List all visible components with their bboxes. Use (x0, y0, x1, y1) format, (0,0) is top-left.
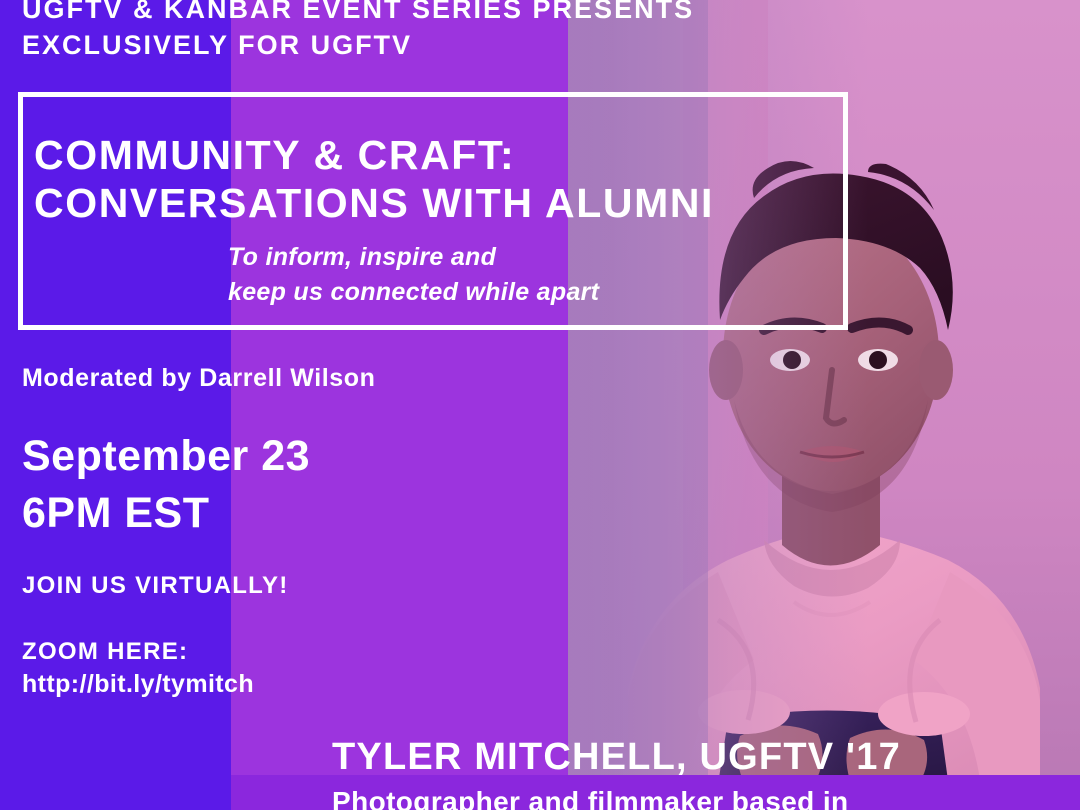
zoom-here-label: ZOOM HERE: (22, 638, 188, 666)
event-title-line-one: COMMUNITY & CRAFT: (34, 132, 515, 179)
event-subtitle-line-one: To inform, inspire and (228, 243, 496, 272)
moderator-label: Moderated by Darrell Wilson (22, 364, 376, 393)
event-time: 6PM EST (22, 489, 210, 538)
event-title-line-two: CONVERSATIONS WITH ALUMNI (34, 180, 714, 227)
footer-indigo-band (0, 775, 231, 810)
speaker-name: TYLER MITCHELL, UGFTV '17 (332, 736, 901, 779)
event-date: September 23 (22, 432, 310, 481)
event-subtitle-line-two: keep us connected while apart (228, 278, 599, 307)
speaker-description: Photographer and filmmaker based in (332, 786, 849, 810)
zoom-link[interactable]: http://bit.ly/tymitch (22, 670, 254, 699)
join-virtually-callout: JOIN US VIRTUALLY! (22, 572, 289, 600)
header-line-two: EXCLUSIVELY FOR UGFTV (22, 30, 412, 61)
event-poster: UGFTV & KANBAR EVENT SERIES PRESENTS EXC… (0, 0, 1080, 810)
header-line-one: UGFTV & KANBAR EVENT SERIES PRESENTS (22, 0, 694, 25)
